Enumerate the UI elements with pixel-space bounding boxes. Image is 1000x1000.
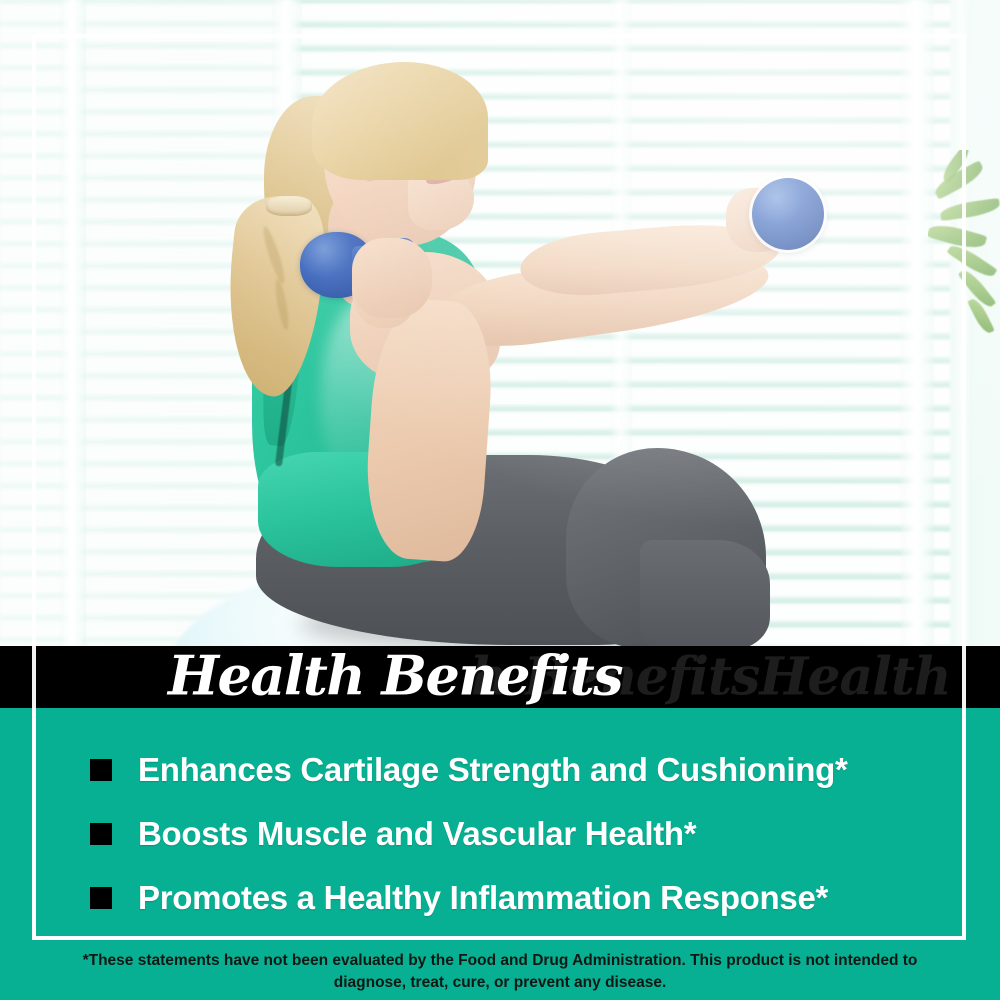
- fda-disclaimer: *These statements have not been evaluate…: [60, 950, 940, 995]
- bullet-square-icon: [90, 823, 112, 845]
- list-item: Enhances Cartilage Strength and Cushioni…: [90, 738, 970, 802]
- benefit-label: Boosts Muscle and Vascular Health*: [138, 815, 696, 853]
- hand-at-shoulder: [352, 238, 432, 318]
- benefit-label: Promotes a Healthy Inflammation Response…: [138, 879, 828, 917]
- dumbbell-far: [752, 178, 824, 250]
- list-item: Boosts Muscle and Vascular Health*: [90, 802, 970, 866]
- bullet-square-icon: [90, 759, 112, 781]
- hair-top: [312, 62, 488, 180]
- hair-tie: [266, 196, 312, 216]
- person-figure: [0, 0, 1000, 646]
- benefit-label: Enhances Cartilage Strength and Cushioni…: [138, 751, 848, 789]
- legging-shin: [640, 540, 770, 646]
- poster-frame-banner-right: [962, 646, 966, 708]
- promo-poster: h BenefitsHealth Health Benefits Enhance…: [0, 0, 1000, 1000]
- page-title: Health Benefits: [168, 646, 622, 708]
- poster-frame-banner-left: [32, 646, 36, 708]
- benefits-list: Enhances Cartilage Strength and Cushioni…: [90, 738, 970, 930]
- bullet-square-icon: [90, 887, 112, 909]
- list-item: Promotes a Healthy Inflammation Response…: [90, 866, 970, 930]
- hero-photo: [0, 0, 1000, 646]
- title-banner: h BenefitsHealth Health Benefits: [0, 646, 1000, 708]
